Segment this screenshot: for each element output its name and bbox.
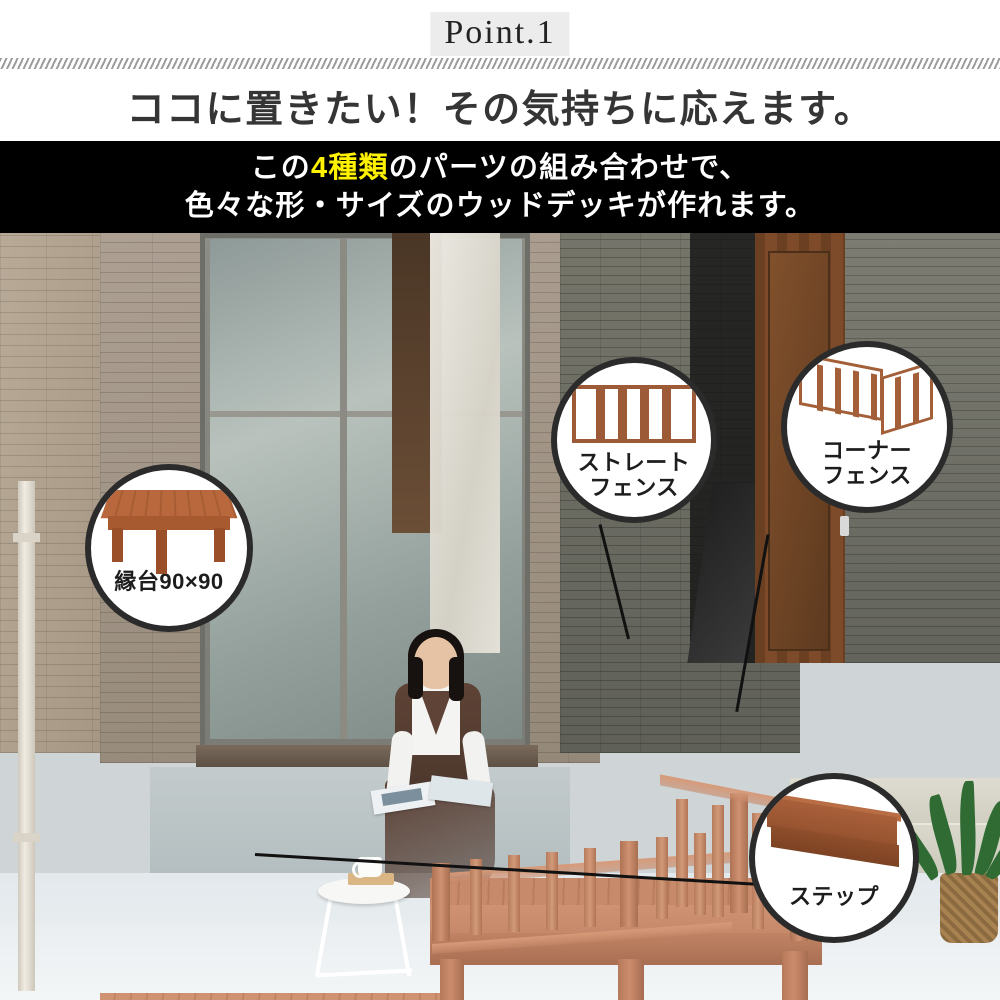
banner-highlight: 4種類 bbox=[311, 152, 389, 184]
downspout-pipe bbox=[18, 481, 35, 991]
pipe-bracket-upper bbox=[13, 533, 40, 542]
black-banner: この4種類のパーツの組み合わせで、 色々な形・サイズのウッドデッキが作れます。 bbox=[0, 141, 1000, 233]
engawa-leg bbox=[112, 528, 123, 562]
callout-engawa[interactable]: 縁台90×90 bbox=[85, 464, 253, 632]
railing-baluster bbox=[546, 852, 558, 930]
railing-baluster bbox=[712, 805, 724, 917]
hatched-divider bbox=[0, 58, 1000, 69]
headline-row: ココに置きたい！その気持ちに応えます。 bbox=[0, 69, 1000, 141]
banner-line1-post: のパーツの組み合わせで、 bbox=[389, 152, 750, 184]
callout-step[interactable]: ステップ bbox=[749, 773, 919, 943]
engawa-deck-face bbox=[108, 516, 230, 530]
railing-baluster bbox=[676, 799, 688, 907]
point-label: Point.1 bbox=[430, 12, 569, 56]
window-vertical-rail bbox=[340, 239, 347, 739]
engawa-leg bbox=[214, 528, 225, 562]
corner-fence-slat bbox=[817, 364, 823, 411]
pipe-bracket-lower bbox=[13, 833, 40, 842]
person-hair-strand-left bbox=[408, 657, 423, 699]
person-vneck bbox=[420, 691, 452, 735]
curtain bbox=[430, 233, 500, 653]
person-hair-strand-right bbox=[449, 657, 464, 701]
corner-fence-slat bbox=[853, 370, 859, 417]
banner-line-1: この4種類のパーツの組み合わせで、 bbox=[251, 150, 750, 186]
deck-leg bbox=[440, 959, 464, 1000]
straight-fence-slat bbox=[662, 389, 671, 439]
product-photo: 縁台90×90 ストレート フェンス bbox=[0, 233, 1000, 1000]
straight-fence-slat bbox=[596, 389, 605, 439]
corner-fence-slat bbox=[835, 367, 841, 414]
railing-baluster bbox=[470, 859, 482, 935]
railing-post bbox=[620, 841, 638, 927]
callout-step-label: ステップ bbox=[789, 885, 879, 910]
corner-fence-panel-b bbox=[881, 361, 933, 435]
straight-fence-slat bbox=[618, 389, 627, 439]
corner-fence-slat bbox=[895, 376, 901, 428]
callout-straight-fence-label-1: ストレート bbox=[578, 451, 691, 476]
callout-straight-fence[interactable]: ストレート フェンス bbox=[551, 357, 717, 523]
straight-fence-frame bbox=[572, 385, 696, 443]
point-band: Point.1 bbox=[0, 0, 1000, 58]
railing-baluster bbox=[508, 855, 520, 932]
page-headline: ココに置きたい！その気持ちに応えます。 bbox=[127, 78, 874, 133]
infographic-page: Point.1 ココに置きたい！その気持ちに応えます。 この4種類のパーツの組み… bbox=[0, 0, 1000, 1000]
banner-line-2: 色々な形・サイズのウッドデッキが作れます。 bbox=[185, 188, 815, 224]
engawa-leg bbox=[156, 530, 167, 574]
deck-leg bbox=[782, 951, 808, 1000]
corner-fence-slat bbox=[913, 372, 919, 424]
deck-platform-left-top bbox=[100, 993, 440, 1000]
banner-line1-pre: この bbox=[251, 152, 311, 184]
deck-leg bbox=[618, 959, 644, 1000]
callout-straight-fence-label-2: フェンス bbox=[589, 476, 679, 501]
door-handle bbox=[840, 516, 849, 536]
callout-corner-fence-label-1: コーナー bbox=[822, 439, 912, 464]
corner-fence-slat bbox=[871, 373, 877, 420]
railing-baluster bbox=[694, 833, 706, 915]
straight-fence-slat bbox=[640, 389, 649, 439]
callout-corner-fence[interactable]: コーナー フェンス bbox=[781, 341, 953, 513]
railing-baluster bbox=[584, 848, 596, 927]
wicker-basket bbox=[940, 873, 998, 943]
callout-corner-fence-label-2: フェンス bbox=[822, 464, 912, 489]
railing-post bbox=[432, 863, 450, 941]
engawa-deck-top bbox=[101, 490, 238, 518]
railing-corner-post bbox=[730, 793, 748, 913]
